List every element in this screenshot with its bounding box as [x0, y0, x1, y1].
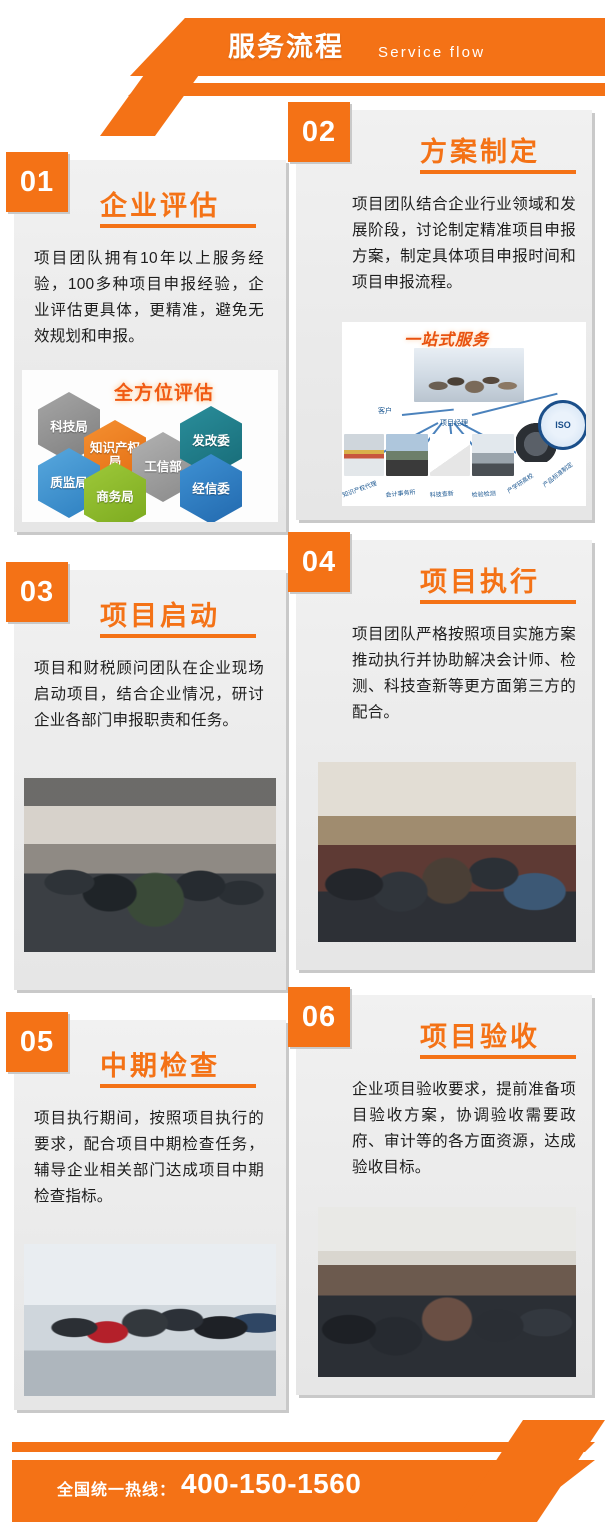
- step-body-06: 企业项目验收要求，提前准备项目验收方案，协调验收需要政府、审计等的各方面资源，达…: [352, 1077, 576, 1181]
- step-card-04: 项目执行 项目团队严格按照项目实施方案推动执行并协助解决会计师、检测、科技查新等…: [296, 540, 592, 970]
- photo-boardroom-meeting: [24, 778, 276, 952]
- step-body-04: 项目团队严格按照项目实施方案推动执行并协助解决会计师、检测、科技查新等更方面第三…: [352, 622, 576, 726]
- service-caption-5: 产品标准制定: [540, 460, 574, 489]
- service-photo-testing: [472, 434, 514, 476]
- step-title-05: 中期检查: [100, 1044, 220, 1083]
- service-seal-label: ISO: [555, 420, 571, 430]
- step-badge-04: 04: [288, 532, 350, 592]
- hexagon-node-label: 工信部: [144, 460, 182, 474]
- step-body-05: 项目执行期间，按照项目执行的要求，配合项目中期检查任务，辅导企业相关部门达成项目…: [34, 1106, 264, 1210]
- photo-working-session: [318, 762, 576, 942]
- hexagon-node-label: 商务局: [96, 490, 134, 504]
- service-photo-ip: [344, 434, 384, 476]
- hexagon-node-label: 科技局: [50, 420, 88, 434]
- one-stop-service-diagram: 一站式服务 客户 项目经理 ISO 知识产权代理 会计事务: [342, 322, 586, 506]
- step-title-01: 企业评估: [100, 184, 220, 223]
- header-band-shape: [130, 18, 605, 76]
- service-photo-accounting: [386, 434, 428, 476]
- hotline-number: 400-150-1560: [181, 1468, 361, 1500]
- step-body-01: 项目团队拥有10年以上服务经验，100多种项目申报经验，企业评估更具体，更精准，…: [34, 246, 264, 350]
- service-node-client: 客户: [378, 406, 392, 416]
- page-title: 服务流程: [228, 24, 344, 70]
- service-photo-novelty: [430, 434, 470, 476]
- title-rule-02: [420, 170, 576, 174]
- service-photo-meeting: [414, 348, 524, 402]
- step-badge-06: 06: [288, 987, 350, 1047]
- service-node-manager: 项目经理: [440, 418, 468, 428]
- photo-acceptance-meeting: [318, 1207, 576, 1377]
- infographic-page: 服务流程 Service flow 企业评估 项目团队拥有10年以上服务经验，1…: [0, 0, 605, 1538]
- step-body-03: 项目和财税顾问团队在企业现场启动项目，结合企业情况，研讨企业各部门申报职责和任务…: [34, 656, 264, 734]
- hexagon-node-label: 质监局: [50, 476, 88, 490]
- title-rule-01: [100, 224, 256, 228]
- step-badge-02: 02: [288, 102, 350, 162]
- page-subtitle: Service flow: [378, 34, 485, 72]
- step-title-06: 项目验收: [420, 1015, 540, 1054]
- title-rule-05: [100, 1084, 256, 1088]
- hexagon-diagram: 全方位评估 科技局 知识产权局 质监局 工信部 发改委 商务局 经信委: [22, 370, 278, 522]
- hexagon-node-label: 经信委: [192, 482, 230, 496]
- step-card-02: 方案制定 项目团队结合企业行业领域和发展阶段，讨论制定精准项目申报方案，制定具体…: [296, 110, 592, 520]
- step-body-02: 项目团队结合企业行业领域和发展阶段，讨论制定精准项目申报方案，制定具体项目申报时…: [352, 192, 576, 296]
- hexagon-node-label: 发改委: [192, 434, 230, 448]
- step-title-02: 方案制定: [420, 130, 540, 169]
- step-badge-03: 03: [6, 562, 68, 622]
- service-caption-2: 科技查新: [429, 488, 454, 499]
- hotline-label: 全国统一热线：: [57, 1476, 176, 1500]
- step-title-04: 项目执行: [420, 560, 540, 599]
- header-stripe-shape: [128, 83, 605, 96]
- title-rule-03: [100, 634, 256, 638]
- step-title-03: 项目启动: [100, 594, 220, 633]
- service-seal-icon: ISO: [538, 400, 586, 450]
- hexagon-diagram-title: 全方位评估: [114, 378, 214, 405]
- service-caption-0: 知识产权代理: [342, 478, 378, 499]
- title-rule-04: [420, 600, 576, 604]
- title-rule-06: [420, 1055, 576, 1059]
- step-badge-01: 01: [6, 152, 68, 212]
- service-caption-3: 检验检测: [471, 488, 496, 499]
- step-badge-05: 05: [6, 1012, 68, 1072]
- service-arrow-to-client: [402, 409, 454, 416]
- service-caption-1: 会计事务所: [385, 487, 416, 499]
- step-card-01: 企业评估 项目团队拥有10年以上服务经验，100多种项目申报经验，企业评估更具体…: [14, 160, 286, 532]
- step-card-06: 项目验收 企业项目验收要求，提前准备项目验收方案，协调验收需要政府、审计等的各方…: [296, 995, 592, 1395]
- service-diagram-title: 一站式服务: [404, 326, 489, 350]
- step-card-03: 项目启动 项目和财税顾问团队在企业现场启动项目，结合企业情况，研讨企业各部门申报…: [14, 570, 286, 990]
- step-card-05: 中期检查 项目执行期间，按照项目执行的要求，配合项目中期检查任务，辅导企业相关部…: [14, 1020, 286, 1410]
- photo-site-visit: [24, 1244, 276, 1396]
- page-footer: 全国统一热线： 400-150-1560: [0, 1420, 605, 1538]
